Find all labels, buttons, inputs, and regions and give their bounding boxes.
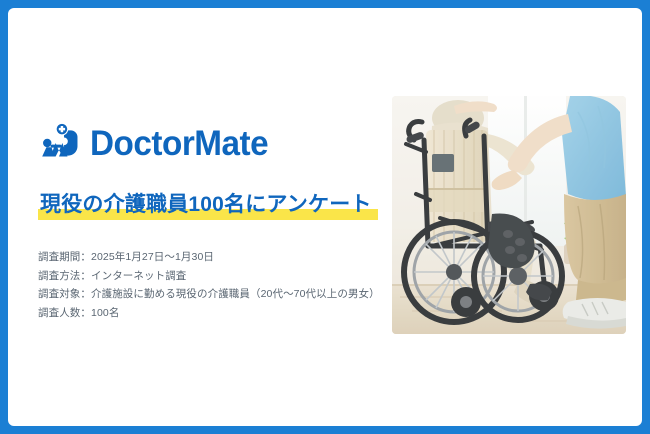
slide-frame: DoctorMate 現役の介護職員100名にアンケート 調査期間：2025年1… [0,0,650,434]
slide-content-area: DoctorMate 現役の介護職員100名にアンケート 調査期間：2025年1… [8,8,642,426]
brand-lockup: DoctorMate [38,120,383,166]
survey-meta-block: 調査期間：2025年1月27日〜1月30日 調査方法：インターネット調査 調査対… [38,248,383,322]
left-content-column: DoctorMate 現役の介護職員100名にアンケート 調査期間：2025年1… [38,120,383,322]
survey-meta-method: 調査方法：インターネット調査 [38,267,383,286]
brand-wordmark: DoctorMate [90,126,268,161]
photo-illustration [392,96,626,334]
headline: 現役の介護職員100名にアンケート [38,192,374,220]
headline-wrapper: 現役の介護職員100名にアンケート [38,192,383,220]
survey-meta-count: 調査人数：100名 [38,304,383,323]
doctormate-caregiver-logo-icon [38,122,80,164]
headline-text: 現役の介護職員100名にアンケート [40,193,372,216]
survey-meta-period: 調査期間：2025年1月27日〜1月30日 [38,248,383,267]
caregiver-assisting-wheelchair-user-photo [392,96,626,334]
survey-meta-target: 調査対象：介護施設に勤める現役の介護職員（20代〜70代以上の男女） [38,285,383,304]
